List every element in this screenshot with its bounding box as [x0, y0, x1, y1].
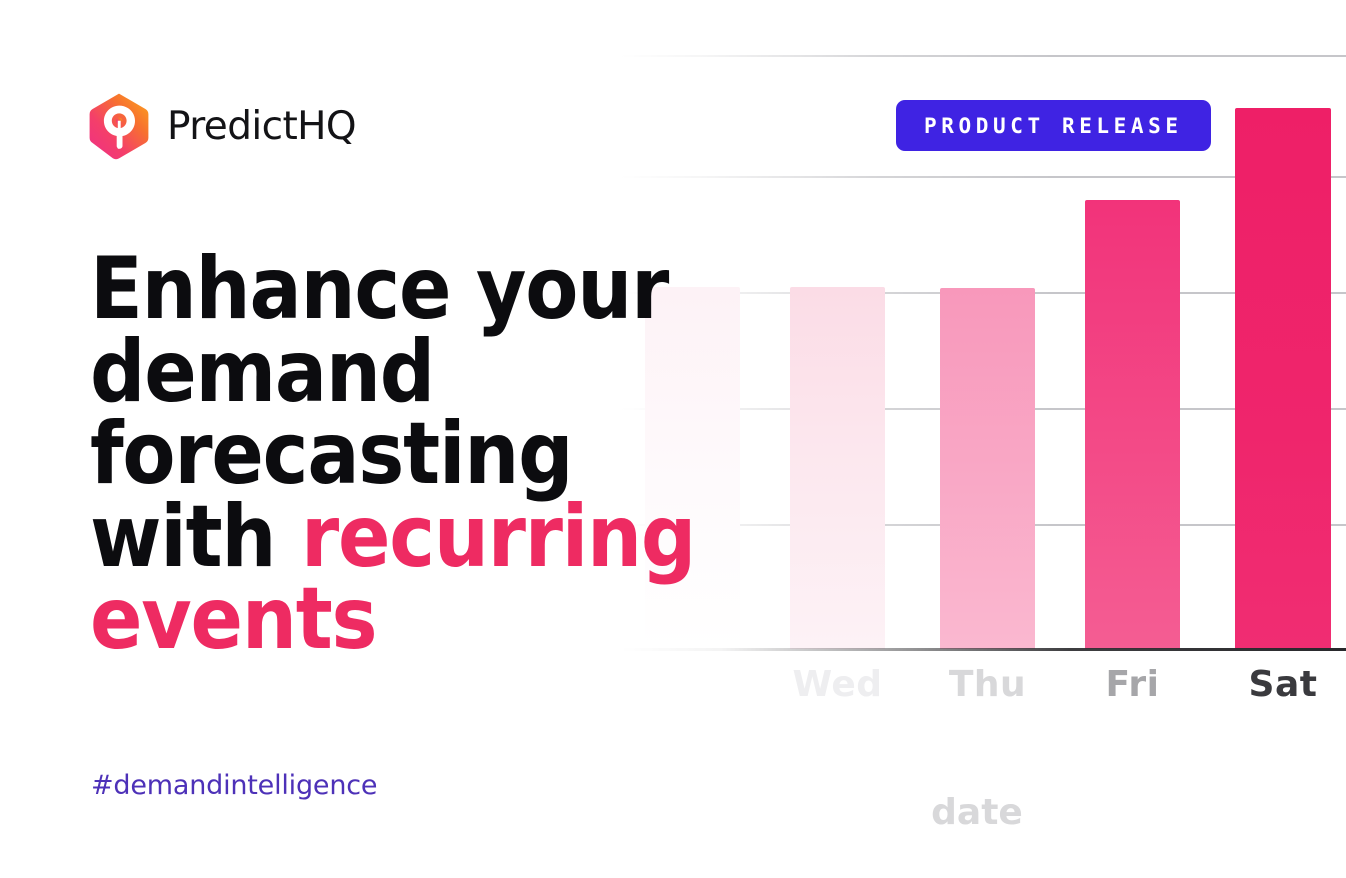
x-axis-title-text: date [931, 792, 1023, 833]
hashtag[interactable]: #demandintelligence [91, 770, 377, 801]
headline-line-4-accent: events [90, 569, 376, 669]
brand-logo[interactable]: PredictHQ [88, 92, 356, 160]
gridline [620, 55, 1346, 57]
bar-thu [940, 288, 1035, 649]
social-card-canvas: Wed Thu Fri Sat date PRODUCT RELEASE [0, 0, 1346, 878]
x-tick-label-sat: Sat [1235, 664, 1331, 705]
brand-wordmark: PredictHQ [167, 107, 356, 146]
product-release-badge[interactable]: PRODUCT RELEASE [896, 100, 1211, 151]
x-tick-label-thu: Thu [940, 664, 1035, 705]
hashtag-label: #demandintelligence [91, 770, 377, 801]
product-release-badge-label: PRODUCT RELEASE [924, 114, 1183, 138]
predicthq-hexagon-pin-logo [88, 92, 150, 160]
bar-sat [1235, 108, 1331, 649]
page-title: Enhance your demand forecasting with rec… [90, 248, 880, 661]
headline-line-2: demand forecasting [90, 322, 572, 505]
x-tick-label-fri: Fri [1085, 664, 1180, 705]
x-tick-label-wed: Wed [790, 664, 885, 705]
x-axis-title: date [620, 792, 1346, 833]
bar-fri [1085, 200, 1180, 649]
